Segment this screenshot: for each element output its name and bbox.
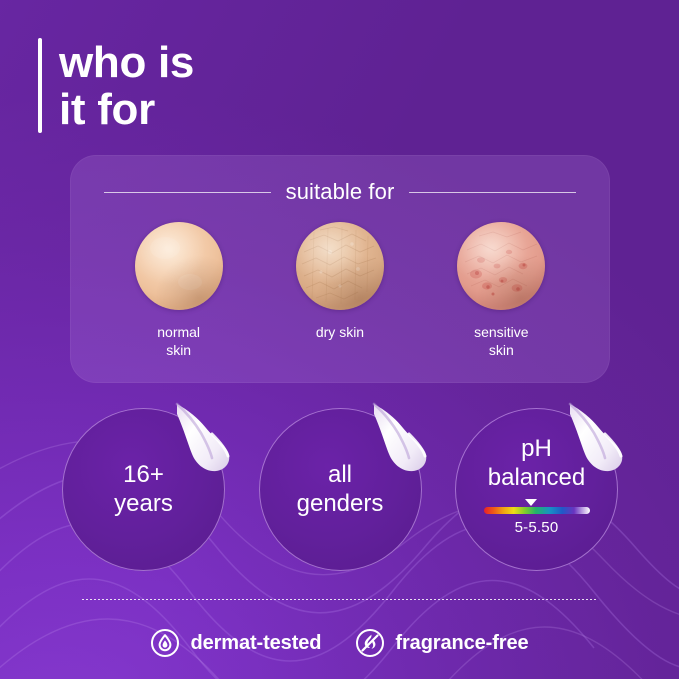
trust-dermat-tested: dermat-tested — [150, 628, 321, 658]
trust-fragrance-free: fragrance-free — [355, 628, 528, 658]
swatch-normal-skin: normal skin — [104, 222, 254, 359]
droplet-icon — [150, 628, 180, 658]
dry-skin-texture — [296, 222, 384, 310]
swatch-sensitive-skin: sensitive skin — [426, 222, 576, 359]
fragrance-free-label: fragrance-free — [395, 632, 528, 655]
badge-row: 16+ years all genders — [62, 408, 618, 571]
card-title: suitable for — [286, 179, 395, 205]
title-text: who is it for — [59, 38, 194, 133]
card-rule-right — [409, 192, 576, 193]
sensitive-skin-label: sensitive skin — [474, 324, 528, 359]
dry-skin-label: dry skin — [316, 324, 364, 342]
badge-age-label: 16+ years — [114, 461, 173, 518]
infographic-canvas: who is it for suitable for normal skin — [0, 0, 679, 679]
card-header: suitable for — [104, 179, 576, 205]
cream-swoosh-icon — [168, 400, 234, 478]
dry-skin-swatch-image — [296, 222, 384, 310]
dermat-tested-label: dermat-tested — [190, 632, 321, 655]
ph-gradient-bar — [484, 507, 590, 514]
skin-swatch-row: normal skin — [98, 222, 582, 359]
title-accent-bar — [38, 38, 42, 133]
ph-marker-icon — [525, 499, 537, 506]
page-title: who is it for — [38, 38, 194, 133]
badge-gender: all genders — [259, 408, 422, 571]
badge-ph: pH balanced 5-5.50 — [455, 408, 618, 571]
section-divider — [82, 599, 597, 600]
badge-age: 16+ years — [62, 408, 225, 571]
card-rule-left — [104, 192, 271, 193]
normal-skin-label: normal skin — [157, 324, 200, 359]
ph-value-label: 5-5.50 — [515, 519, 559, 536]
badge-ph-label: pH balanced — [488, 435, 585, 492]
suitable-for-card: suitable for normal skin — [70, 155, 610, 383]
swatch-dry-skin: dry skin — [265, 222, 415, 342]
ph-scale: 5-5.50 — [484, 499, 590, 536]
sensitive-skin-texture — [457, 222, 545, 310]
sensitive-skin-swatch-image — [457, 222, 545, 310]
trust-badge-row: dermat-tested fragrance-free — [0, 628, 679, 658]
badge-gender-label: all genders — [297, 461, 384, 518]
normal-skin-texture — [135, 222, 223, 310]
normal-skin-swatch-image — [135, 222, 223, 310]
no-fragrance-icon — [355, 628, 385, 658]
